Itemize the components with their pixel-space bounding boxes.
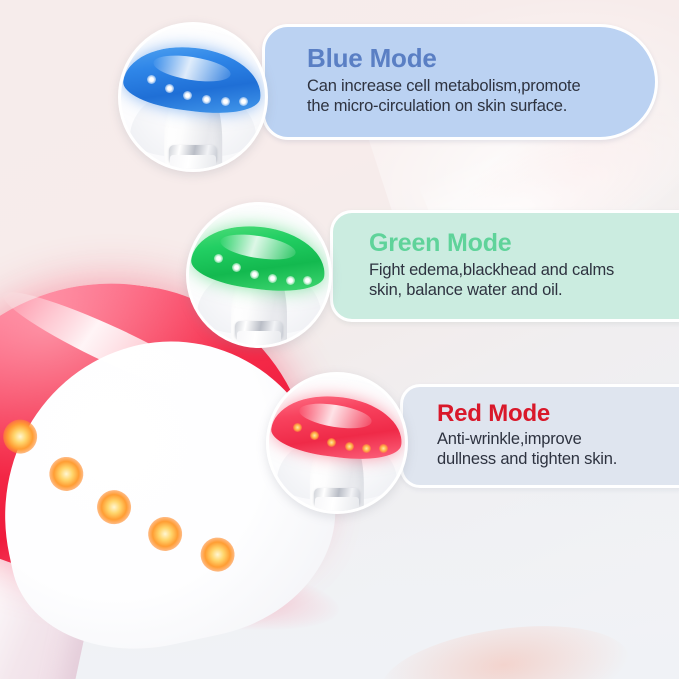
blue-mode-product-photo: [118, 22, 268, 172]
led-dot: [221, 97, 230, 106]
device-illustration-green: [189, 205, 329, 345]
led-dot: [250, 270, 259, 279]
led-dot: [362, 444, 371, 453]
led-dot: [239, 97, 248, 106]
led-dot: [202, 95, 211, 104]
red-mode-product-photo: [266, 372, 408, 514]
led-dot: [214, 254, 223, 263]
mode-card-green: Green Mode Fight edema,blackhead and cal…: [330, 210, 679, 322]
mode-card-blue: Blue Mode Can increase cell metabolism,p…: [262, 24, 658, 140]
green-mode-product-photo: [186, 202, 332, 348]
led-dot: [147, 75, 156, 84]
led-dot: [303, 276, 312, 285]
led-dot: [310, 431, 319, 440]
device-illustration-blue: [121, 25, 265, 169]
led-dot: [286, 276, 295, 285]
mode-title-red: Red Mode: [437, 401, 679, 426]
device-lower-handle: [170, 155, 216, 172]
mode-description-green: Fight edema,blackhead and calms skin, ba…: [369, 261, 679, 300]
led-dot: [345, 442, 354, 451]
led-dot: [268, 274, 277, 283]
mode-title-blue: Blue Mode: [307, 45, 655, 72]
mode-title-green: Green Mode: [369, 230, 679, 256]
background-bottom-pink-glow: [375, 612, 635, 679]
led-dot: [293, 423, 302, 432]
mode-card-red: Red Mode Anti-wrinkle,improve dullness a…: [400, 384, 679, 488]
led-dot: [165, 84, 174, 93]
led-dot: [232, 263, 241, 272]
mode-description-red: Anti-wrinkle,improve dullness and tighte…: [437, 430, 679, 469]
mode-description-blue: Can increase cell metabolism,promote the…: [307, 77, 655, 116]
device-lower-handle: [315, 497, 359, 514]
led-dot: [183, 91, 192, 100]
product-infographic: EAN Blue Mode Can increase cell metaboli…: [0, 0, 679, 679]
led-dot: [379, 444, 388, 453]
device-illustration-red: [269, 375, 405, 511]
led-dot: [327, 438, 336, 447]
device-lower-handle: [237, 331, 282, 348]
